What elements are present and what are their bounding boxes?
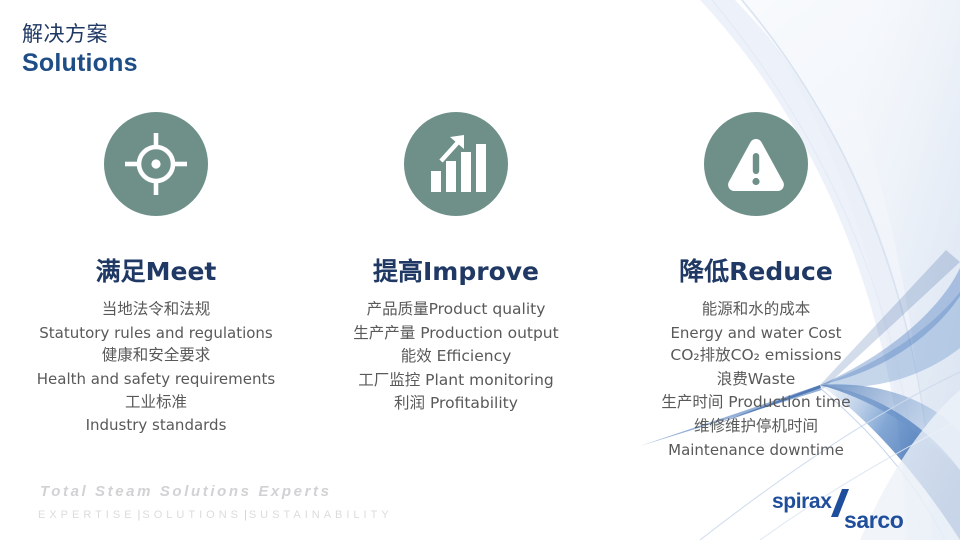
footer-pillar-solutions: SOLUTIONS xyxy=(142,509,242,521)
column-heading-meet-en: Meet xyxy=(146,257,217,286)
logo-word-spirax: spirax xyxy=(772,490,832,513)
solution-column-reduce: 降低Reduce 能源和水的成本 Energy and water Cost C… xyxy=(606,112,906,461)
page-title: 解决方案 Solutions xyxy=(22,22,138,78)
target-crosshair-icon-badge xyxy=(104,112,208,216)
solutions-columns: 满足Meet 当地法令和法规 Statutory rules and regul… xyxy=(0,112,960,461)
list-item: 利润 Profitability xyxy=(353,392,558,416)
column-lines-reduce: 能源和水的成本 Energy and water Cost CO₂排放CO₂ e… xyxy=(661,298,850,461)
list-item: 健康和安全要求 xyxy=(37,344,275,368)
column-heading-improve: 提高Improve xyxy=(373,252,539,288)
column-heading-reduce-cn: 降低 xyxy=(679,257,729,286)
column-heading-improve-en: Improve xyxy=(423,257,539,286)
footer-pillar-expertise: EXPERTISE xyxy=(38,509,136,521)
list-item: 产品质量Product quality xyxy=(353,298,558,322)
column-heading-reduce: 降低Reduce xyxy=(679,252,833,288)
list-item: Energy and water Cost xyxy=(661,322,850,345)
page-title-english: Solutions xyxy=(22,49,138,79)
footer-pillars: EXPERTISE|SOLUTIONS|SUSTAINABILITY xyxy=(38,509,393,521)
list-item: 能源和水的成本 xyxy=(661,298,850,322)
list-item: Health and safety requirements xyxy=(37,368,275,391)
page-title-chinese: 解决方案 xyxy=(22,22,138,47)
footer-pillar-sustainability: SUSTAINABILITY xyxy=(249,509,393,521)
column-heading-improve-cn: 提高 xyxy=(373,257,423,286)
warning-triangle-icon-badge xyxy=(704,112,808,216)
column-heading-meet-cn: 满足 xyxy=(96,257,146,286)
slide-canvas: 解决方案 Solutions 满足Meet 当地 xyxy=(0,0,960,540)
target-crosshair-icon xyxy=(123,131,189,197)
list-item: 生产时间 Production time xyxy=(661,391,850,415)
list-item: 工厂监控 Plant monitoring xyxy=(353,369,558,393)
footer-pillar-separator: | xyxy=(242,509,249,521)
list-item: 当地法令和法规 xyxy=(37,298,275,322)
list-item: Industry standards xyxy=(37,414,275,437)
logo-word-sarco: sarco xyxy=(844,507,904,533)
spirax-sarco-logo: spirax sarco xyxy=(770,487,945,533)
column-heading-reduce-en: Reduce xyxy=(729,257,833,286)
warning-triangle-icon xyxy=(723,131,789,197)
list-item: Statutory rules and regulations xyxy=(37,322,275,345)
solution-column-meet: 满足Meet 当地法令和法规 Statutory rules and regul… xyxy=(6,112,306,461)
column-lines-meet: 当地法令和法规 Statutory rules and regulations … xyxy=(37,298,275,437)
solution-column-improve: 提高Improve 产品质量Product quality 生产产量 Produ… xyxy=(306,112,606,461)
list-item: 维修维护停机时间 xyxy=(661,415,850,439)
footer-tagline: Total Steam Solutions Experts xyxy=(40,483,332,500)
list-item: 浪费Waste xyxy=(661,368,850,392)
column-heading-meet: 满足Meet xyxy=(96,252,217,288)
list-item: 生产产量 Production output xyxy=(353,322,558,346)
bar-chart-growth-icon-badge xyxy=(404,112,508,216)
list-item: CO₂排放CO₂ emissions xyxy=(661,344,850,368)
bar-chart-growth-icon xyxy=(423,131,489,197)
column-lines-improve: 产品质量Product quality 生产产量 Production outp… xyxy=(353,298,558,416)
list-item: Maintenance downtime xyxy=(661,439,850,462)
list-item: 能效 Efficiency xyxy=(353,345,558,369)
list-item: 工业标准 xyxy=(37,391,275,415)
